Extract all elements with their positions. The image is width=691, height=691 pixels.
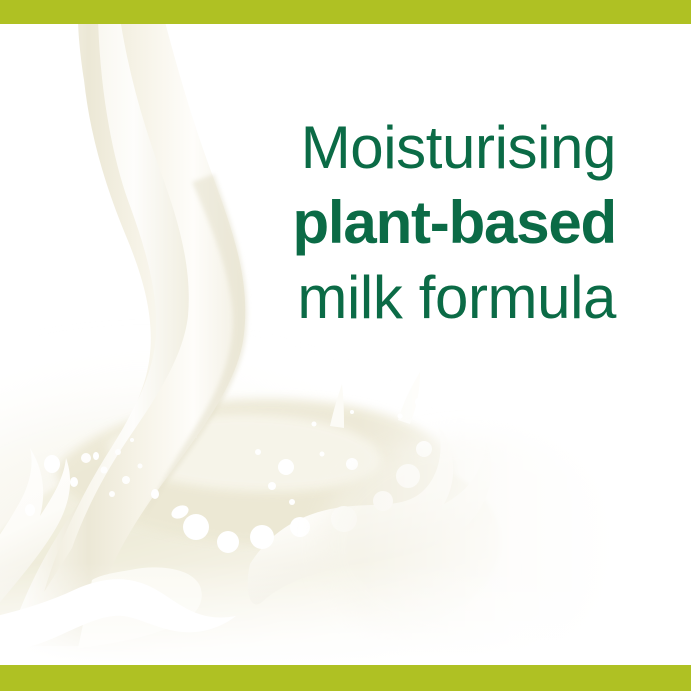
promo-banner: Moisturising plant-based milk formula: [0, 0, 691, 691]
top-green-bar: [0, 0, 691, 24]
headline-line-3: milk formula: [0, 260, 616, 335]
bottom-green-bar: [0, 665, 691, 691]
headline-line-1: Moisturising: [0, 110, 616, 185]
headline-line-2: plant-based: [0, 185, 616, 260]
headline-block: Moisturising plant-based milk formula: [0, 110, 691, 335]
